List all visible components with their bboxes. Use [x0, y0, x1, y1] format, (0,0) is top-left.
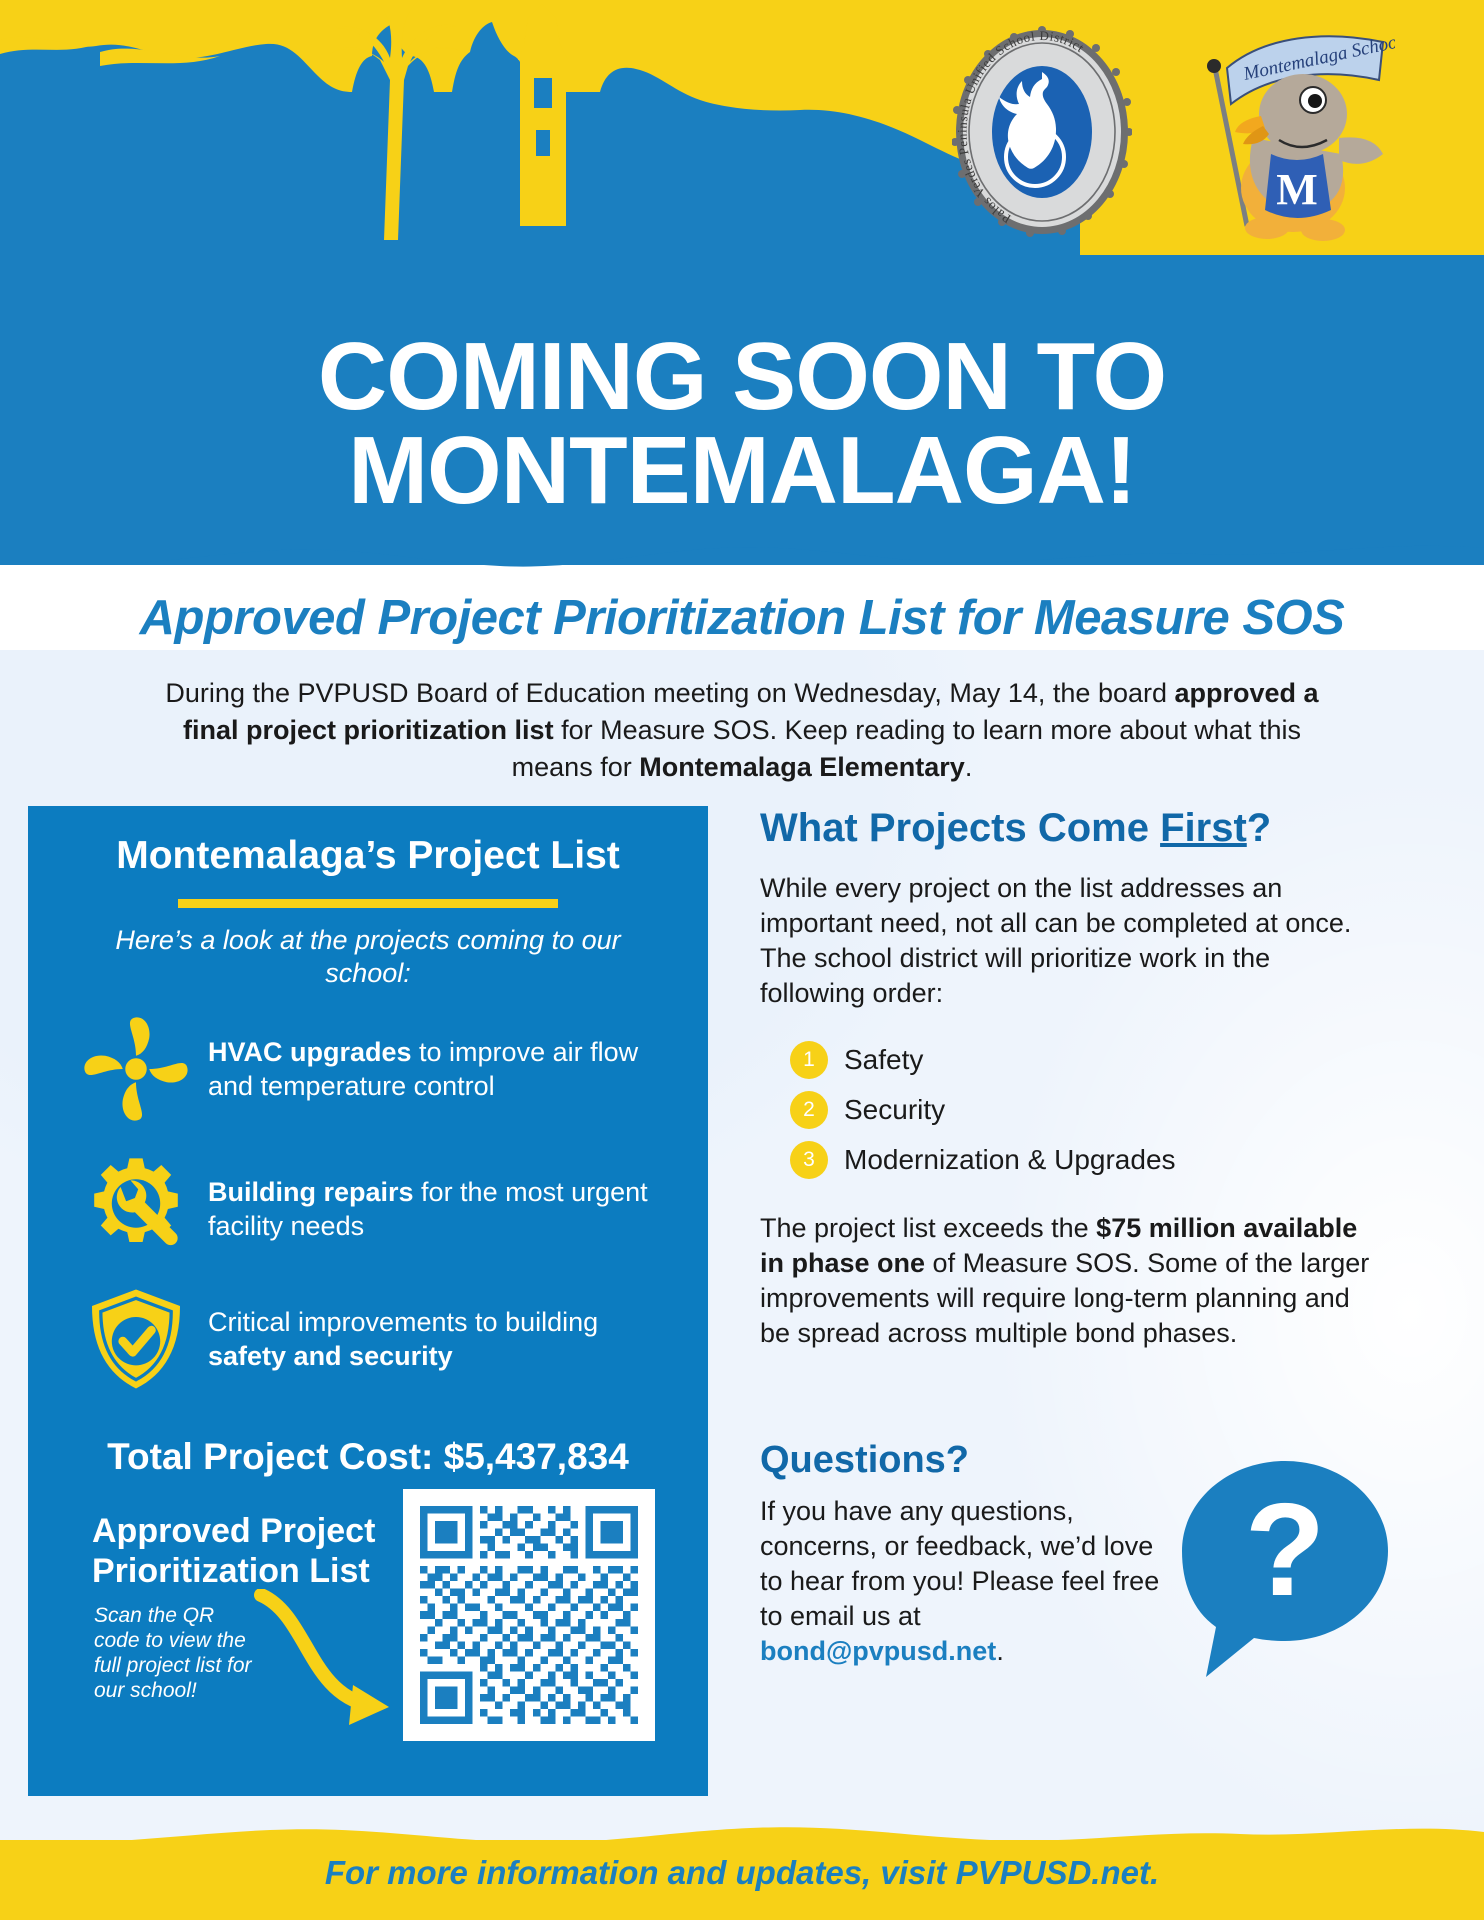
priority-order-list: 1 Safety 2 Security 3 Modernization & Up… [760, 1041, 1380, 1179]
project-2-bold: safety and security [208, 1341, 453, 1371]
project-item-repairs-text: Building repairs for the most urgent fac… [200, 1175, 672, 1243]
project-1-bold: Building repairs [208, 1177, 414, 1207]
title-line-2: MONTEMALAGA! [0, 424, 1484, 518]
priority-step-3: 3 Modernization & Upgrades [760, 1141, 1380, 1179]
priority-step-1: 1 Safety [760, 1041, 1380, 1079]
projects-first-paragraph: While every project on the list addresse… [760, 871, 1380, 1011]
project-item-safety-text: Critical improvements to building safety… [200, 1305, 672, 1373]
heading-post: ? [1247, 806, 1271, 850]
shield-check-icon [72, 1284, 200, 1394]
questions-period: . [996, 1636, 1004, 1666]
panel-title: Montemalaga’s Project List [28, 834, 708, 878]
project-0-bold: HVAC upgrades [208, 1037, 412, 1067]
district-seal-icon: Palos Verdes Peninsula Unified School Di… [952, 26, 1132, 238]
step-label: Safety [828, 1044, 923, 1076]
step-label: Modernization & Upgrades [828, 1144, 1176, 1176]
intro-part-1: During the PVPUSD Board of Education mee… [165, 678, 1174, 708]
title-line-1: COMING SOON TO [318, 323, 1166, 430]
qr-code[interactable] [420, 1506, 638, 1724]
banner-torn-edge [0, 536, 1484, 590]
page-title: COMING SOON TO MONTEMALAGA! [0, 330, 1484, 518]
intro-part-3: . [965, 752, 973, 782]
project-item-repairs: Building repairs for the most urgent fac… [72, 1154, 672, 1264]
total-project-cost: Total Project Cost: $5,437,834 [28, 1436, 708, 1478]
footer-text-pre: For more information and updates, visit [325, 1854, 956, 1891]
heading-pre: What Projects Come [760, 806, 1160, 850]
panel-divider [178, 899, 558, 908]
projects-first-heading: What Projects Come First? [760, 806, 1380, 851]
phase-part-1: The project list exceeds the [760, 1213, 1096, 1243]
step-label: Security [828, 1094, 945, 1126]
svg-text:?: ? [1245, 1476, 1326, 1623]
step-number-badge: 2 [790, 1091, 828, 1129]
priority-step-2: 2 Security [760, 1091, 1380, 1129]
phase-one-paragraph: The project list exceeds the $75 million… [760, 1211, 1380, 1351]
intro-paragraph: During the PVPUSD Board of Education mee… [160, 675, 1324, 786]
school-mascot-icon: Montemalaga School M [1175, 28, 1395, 246]
footer-website[interactable]: PVPUSD.net. [956, 1854, 1160, 1891]
qr-block: Approved Project Prioritization List Sca… [68, 1511, 678, 1761]
step-number-badge: 1 [790, 1041, 828, 1079]
project-item-hvac: HVAC upgrades to improve air flow and te… [72, 1014, 672, 1124]
question-mark-bubble-icon: ? [1170, 1455, 1400, 1685]
project-list-panel: Montemalaga’s Project List Here’s a look… [28, 806, 708, 1796]
contact-email-link[interactable]: bond@pvpusd.net [760, 1636, 996, 1666]
questions-text: If you have any questions, concerns, or … [760, 1496, 1159, 1631]
fan-icon [72, 1014, 200, 1124]
panel-subtitle: Here’s a look at the projects coming to … [88, 924, 648, 990]
heading-underlined: First [1160, 806, 1247, 850]
qr-code-container[interactable] [403, 1489, 655, 1741]
qr-heading: Approved Project Prioritization List [92, 1511, 422, 1591]
gear-wrench-icon [72, 1154, 200, 1264]
questions-paragraph: If you have any questions, concerns, or … [760, 1494, 1160, 1669]
qr-scan-instructions: Scan the QR code to view the full projec… [94, 1603, 254, 1703]
project-2-lead: Critical improvements to building [208, 1307, 598, 1337]
project-item-hvac-text: HVAC upgrades to improve air flow and te… [200, 1035, 672, 1103]
step-number-badge: 3 [790, 1141, 828, 1179]
page-subtitle: Approved Project Prioritization List for… [0, 590, 1484, 646]
intro-bold-2: Montemalaga Elementary [639, 752, 965, 782]
footer-text: For more information and updates, visit … [0, 1854, 1484, 1892]
svg-text:M: M [1276, 165, 1318, 214]
project-item-safety: Critical improvements to building safety… [72, 1284, 672, 1394]
flyer-page: Palos Verdes Peninsula Unified School Di… [0, 0, 1484, 1920]
